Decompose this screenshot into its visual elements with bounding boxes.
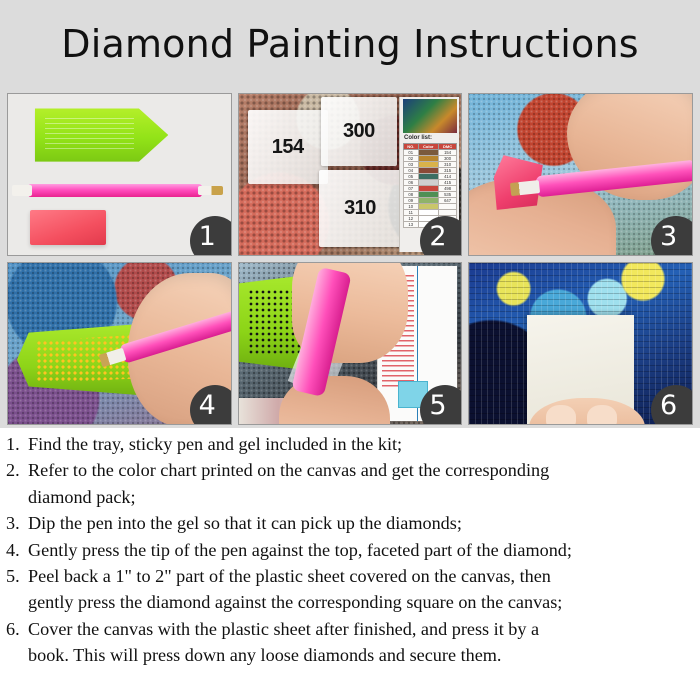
color-row-no: 13	[404, 221, 419, 227]
instruction-number: 4.	[6, 537, 28, 563]
instruction-line: diamond pack;	[6, 484, 690, 510]
instruction-number: 1.	[6, 431, 28, 457]
green-tray-shape	[35, 108, 169, 161]
page-title: Diamond Painting Instructions	[61, 22, 639, 66]
step-photo-5[interactable]: 5	[238, 262, 463, 425]
step-photo-1[interactable]: 1	[7, 93, 232, 256]
instruction-text: Find the tray, sticky pen and gel includ…	[28, 431, 690, 457]
pink-pen-shape	[28, 184, 202, 197]
diamond-bag-310: 310	[319, 170, 401, 247]
instruction-line: gently press the diamond against the cor…	[6, 589, 690, 615]
canvas-thumbnail	[403, 99, 457, 133]
instruction-line: 6.Cover the canvas with the plastic shee…	[6, 616, 690, 642]
instruction-text: Cover the canvas with the plastic sheet …	[28, 616, 690, 642]
instruction-list: 1.Find the tray, sticky pen and gel incl…	[6, 431, 690, 669]
instruction-text: book. This will press down any loose dia…	[28, 642, 690, 668]
instruction-text: Dip the pen into the gel so that it can …	[28, 510, 690, 536]
instruction-line: 5.Peel back a 1" to 2" part of the plast…	[6, 563, 690, 589]
instruction-text: Refer to the color chart printed on the …	[28, 457, 690, 483]
instruction-line: 4.Gently press the tip of the pen agains…	[6, 537, 690, 563]
step-photo-2[interactable]: 154 300 310 Color list: NO. Color DMC	[238, 93, 463, 256]
instruction-number: 3.	[6, 510, 28, 536]
instruction-number: 6.	[6, 616, 28, 642]
instruction-line: book. This will press down any loose dia…	[6, 642, 690, 668]
title-bar: Diamond Painting Instructions	[0, 0, 700, 88]
instruction-line: 3.Dip the pen into the gel so that it ca…	[6, 510, 690, 536]
instruction-poster: Diamond Painting Instructions 1 154 300 …	[0, 0, 700, 694]
instruction-number: 5.	[6, 563, 28, 589]
instruction-line: 2.Refer to the color chart printed on th…	[6, 457, 690, 483]
color-list-table: NO. Color DMC 01154023000331004315054140…	[403, 143, 457, 228]
step-photo-6[interactable]: 6	[468, 262, 693, 425]
instruction-text: Peel back a 1" to 2" part of the plastic…	[28, 563, 690, 589]
step-photo-grid: 1 154 300 310 Color list: NO. Color	[7, 93, 693, 425]
step-photo-3[interactable]: 3	[468, 93, 693, 256]
instruction-line: 1.Find the tray, sticky pen and gel incl…	[6, 431, 690, 457]
color-list-header-row: NO. Color DMC	[404, 143, 457, 149]
instruction-text: gently press the diamond against the cor…	[28, 589, 690, 615]
color-list-title: Color list:	[404, 135, 457, 141]
instruction-number: 2.	[6, 457, 28, 483]
instruction-text: diamond pack;	[28, 484, 690, 510]
diamond-bag-300: 300	[321, 97, 397, 166]
instruction-list-panel: 1.Find the tray, sticky pen and gel incl…	[0, 428, 700, 694]
red-gel-shape	[30, 210, 106, 245]
instruction-text: Gently press the tip of the pen against …	[28, 537, 690, 563]
diamond-bag-154: 154	[248, 110, 328, 184]
step-photo-4[interactable]: 4	[7, 262, 232, 425]
